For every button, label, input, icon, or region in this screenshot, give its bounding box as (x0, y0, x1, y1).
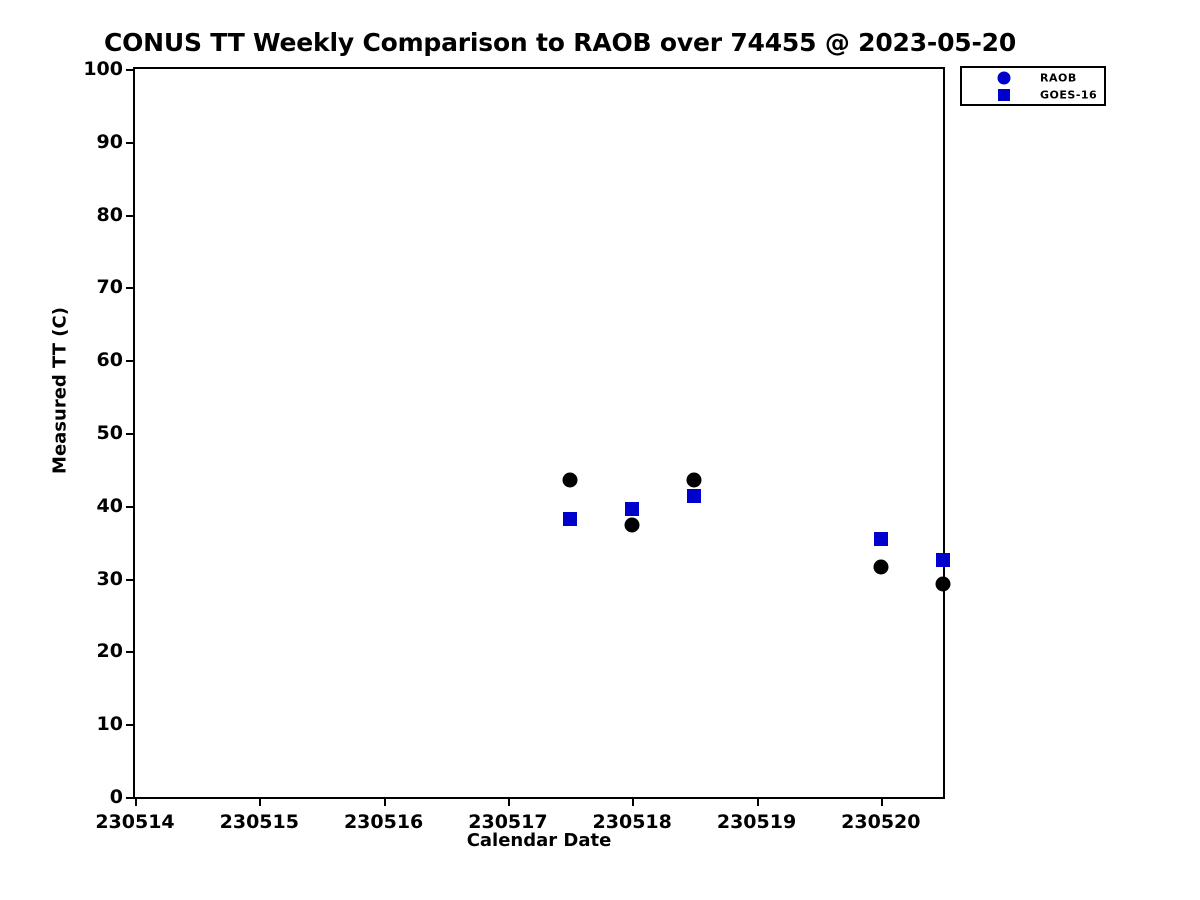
data-point-goes-16 (625, 502, 639, 516)
y-axis-tick-mark (126, 69, 135, 71)
y-axis-tick-label: 20 (97, 640, 123, 662)
y-axis-tick-label: 10 (97, 713, 123, 735)
y-axis-tick-mark (126, 433, 135, 435)
chart-figure: CONUS TT Weekly Comparison to RAOB over … (0, 0, 1200, 900)
data-point-goes-16 (687, 489, 701, 503)
y-axis-tick-mark (126, 651, 135, 653)
data-point-raob (563, 473, 578, 488)
y-axis-tick-label: 100 (83, 58, 123, 80)
y-axis-tick-label: 80 (97, 204, 123, 226)
x-axis-tick-mark (757, 797, 759, 806)
y-axis-tick-mark (126, 287, 135, 289)
y-axis-tick-label: 60 (97, 349, 123, 371)
y-axis-tick-mark (126, 360, 135, 362)
y-axis-tick-label: 40 (97, 495, 123, 517)
x-axis-tick-mark (135, 797, 137, 806)
y-axis-tick-mark (126, 142, 135, 144)
y-axis-tick-mark (126, 724, 135, 726)
data-point-raob (625, 517, 640, 532)
y-axis-tick-label: 50 (97, 422, 123, 444)
data-point-goes-16 (874, 532, 888, 546)
y-axis-tick-mark (126, 579, 135, 581)
chart-legend: RAOBGOES-16 (960, 66, 1106, 106)
data-point-goes-16 (563, 512, 577, 526)
chart-title: CONUS TT Weekly Comparison to RAOB over … (0, 28, 1120, 57)
legend-label: GOES-16 (1040, 89, 1097, 102)
y-axis-tick-label: 90 (97, 131, 123, 153)
data-point-raob (936, 576, 951, 591)
x-axis-label: Calendar Date (133, 830, 945, 851)
legend-label: RAOB (1040, 72, 1077, 85)
data-point-goes-16 (936, 553, 950, 567)
x-axis-tick-mark (384, 797, 386, 806)
legend-marker-circle-icon (998, 72, 1011, 85)
x-axis-tick-mark (881, 797, 883, 806)
y-axis-tick-label: 30 (97, 568, 123, 590)
legend-marker-square-icon (998, 89, 1010, 101)
x-axis-tick-mark (259, 797, 261, 806)
x-axis-tick-mark (508, 797, 510, 806)
data-point-raob (687, 473, 702, 488)
y-axis-label: Measured TT (C) (50, 281, 71, 501)
legend-item-goes-16: GOES-16 (962, 86, 1104, 104)
y-axis-tick-label: 70 (97, 276, 123, 298)
plot-canvas (135, 69, 943, 797)
data-point-raob (873, 559, 888, 574)
plot-area: 0102030405060708090100230514230515230516… (133, 67, 945, 799)
y-axis-tick-mark (126, 506, 135, 508)
y-axis-tick-label: 0 (110, 786, 123, 808)
y-axis-tick-mark (126, 215, 135, 217)
y-axis-tick-mark (126, 797, 135, 799)
legend-item-raob: RAOB (962, 69, 1104, 87)
x-axis-tick-mark (632, 797, 634, 806)
